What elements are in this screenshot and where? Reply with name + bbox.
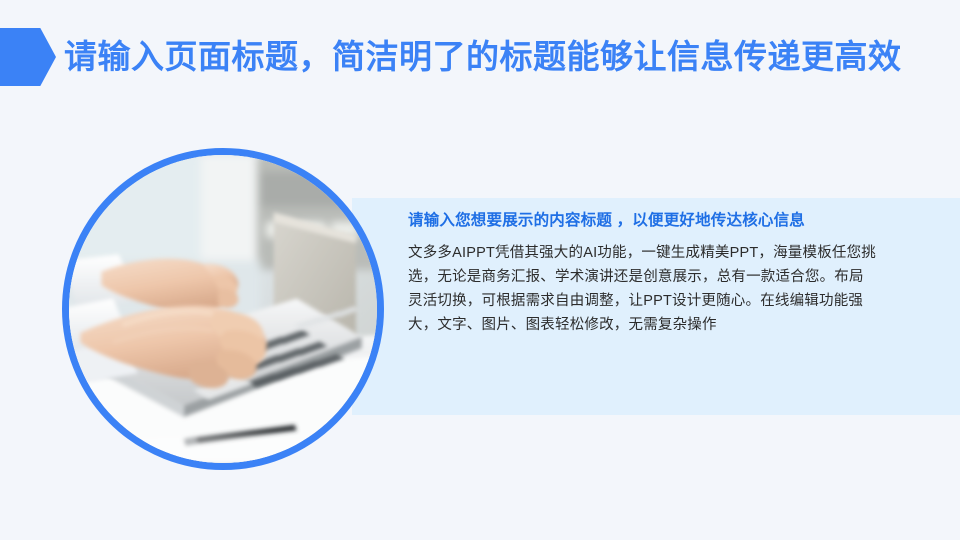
slide-canvas: 请输入页面标题，简洁明了的标题能够让信息传递更高效 请输入您想要展示的内容标题 …: [0, 0, 960, 540]
photo-circle-frame: [62, 148, 384, 470]
content-title: 请输入您想要展示的内容标题 ，以便更好地传达核心信息: [408, 214, 878, 227]
slide-header: 请输入页面标题，简洁明了的标题能够让信息传递更高效: [0, 28, 960, 86]
content-panel: 请输入您想要展示的内容标题 ，以便更好地传达核心信息 文多多AIPPT凭借其强大…: [352, 198, 960, 415]
chevron-banner-shape: [0, 28, 56, 86]
laptop-typing-photo: [69, 155, 377, 463]
page-title: 请输入页面标题，简洁明了的标题能够让信息传递更高效: [64, 28, 902, 86]
content-body: 请输入您想要展示的内容标题 ，以便更好地传达核心信息 文多多AIPPT凭借其强大…: [408, 214, 878, 337]
content-paragraph: 文多多AIPPT凭借其强大的AI功能，一键生成精美PPT，海量模板任您挑选，无论…: [408, 241, 878, 337]
